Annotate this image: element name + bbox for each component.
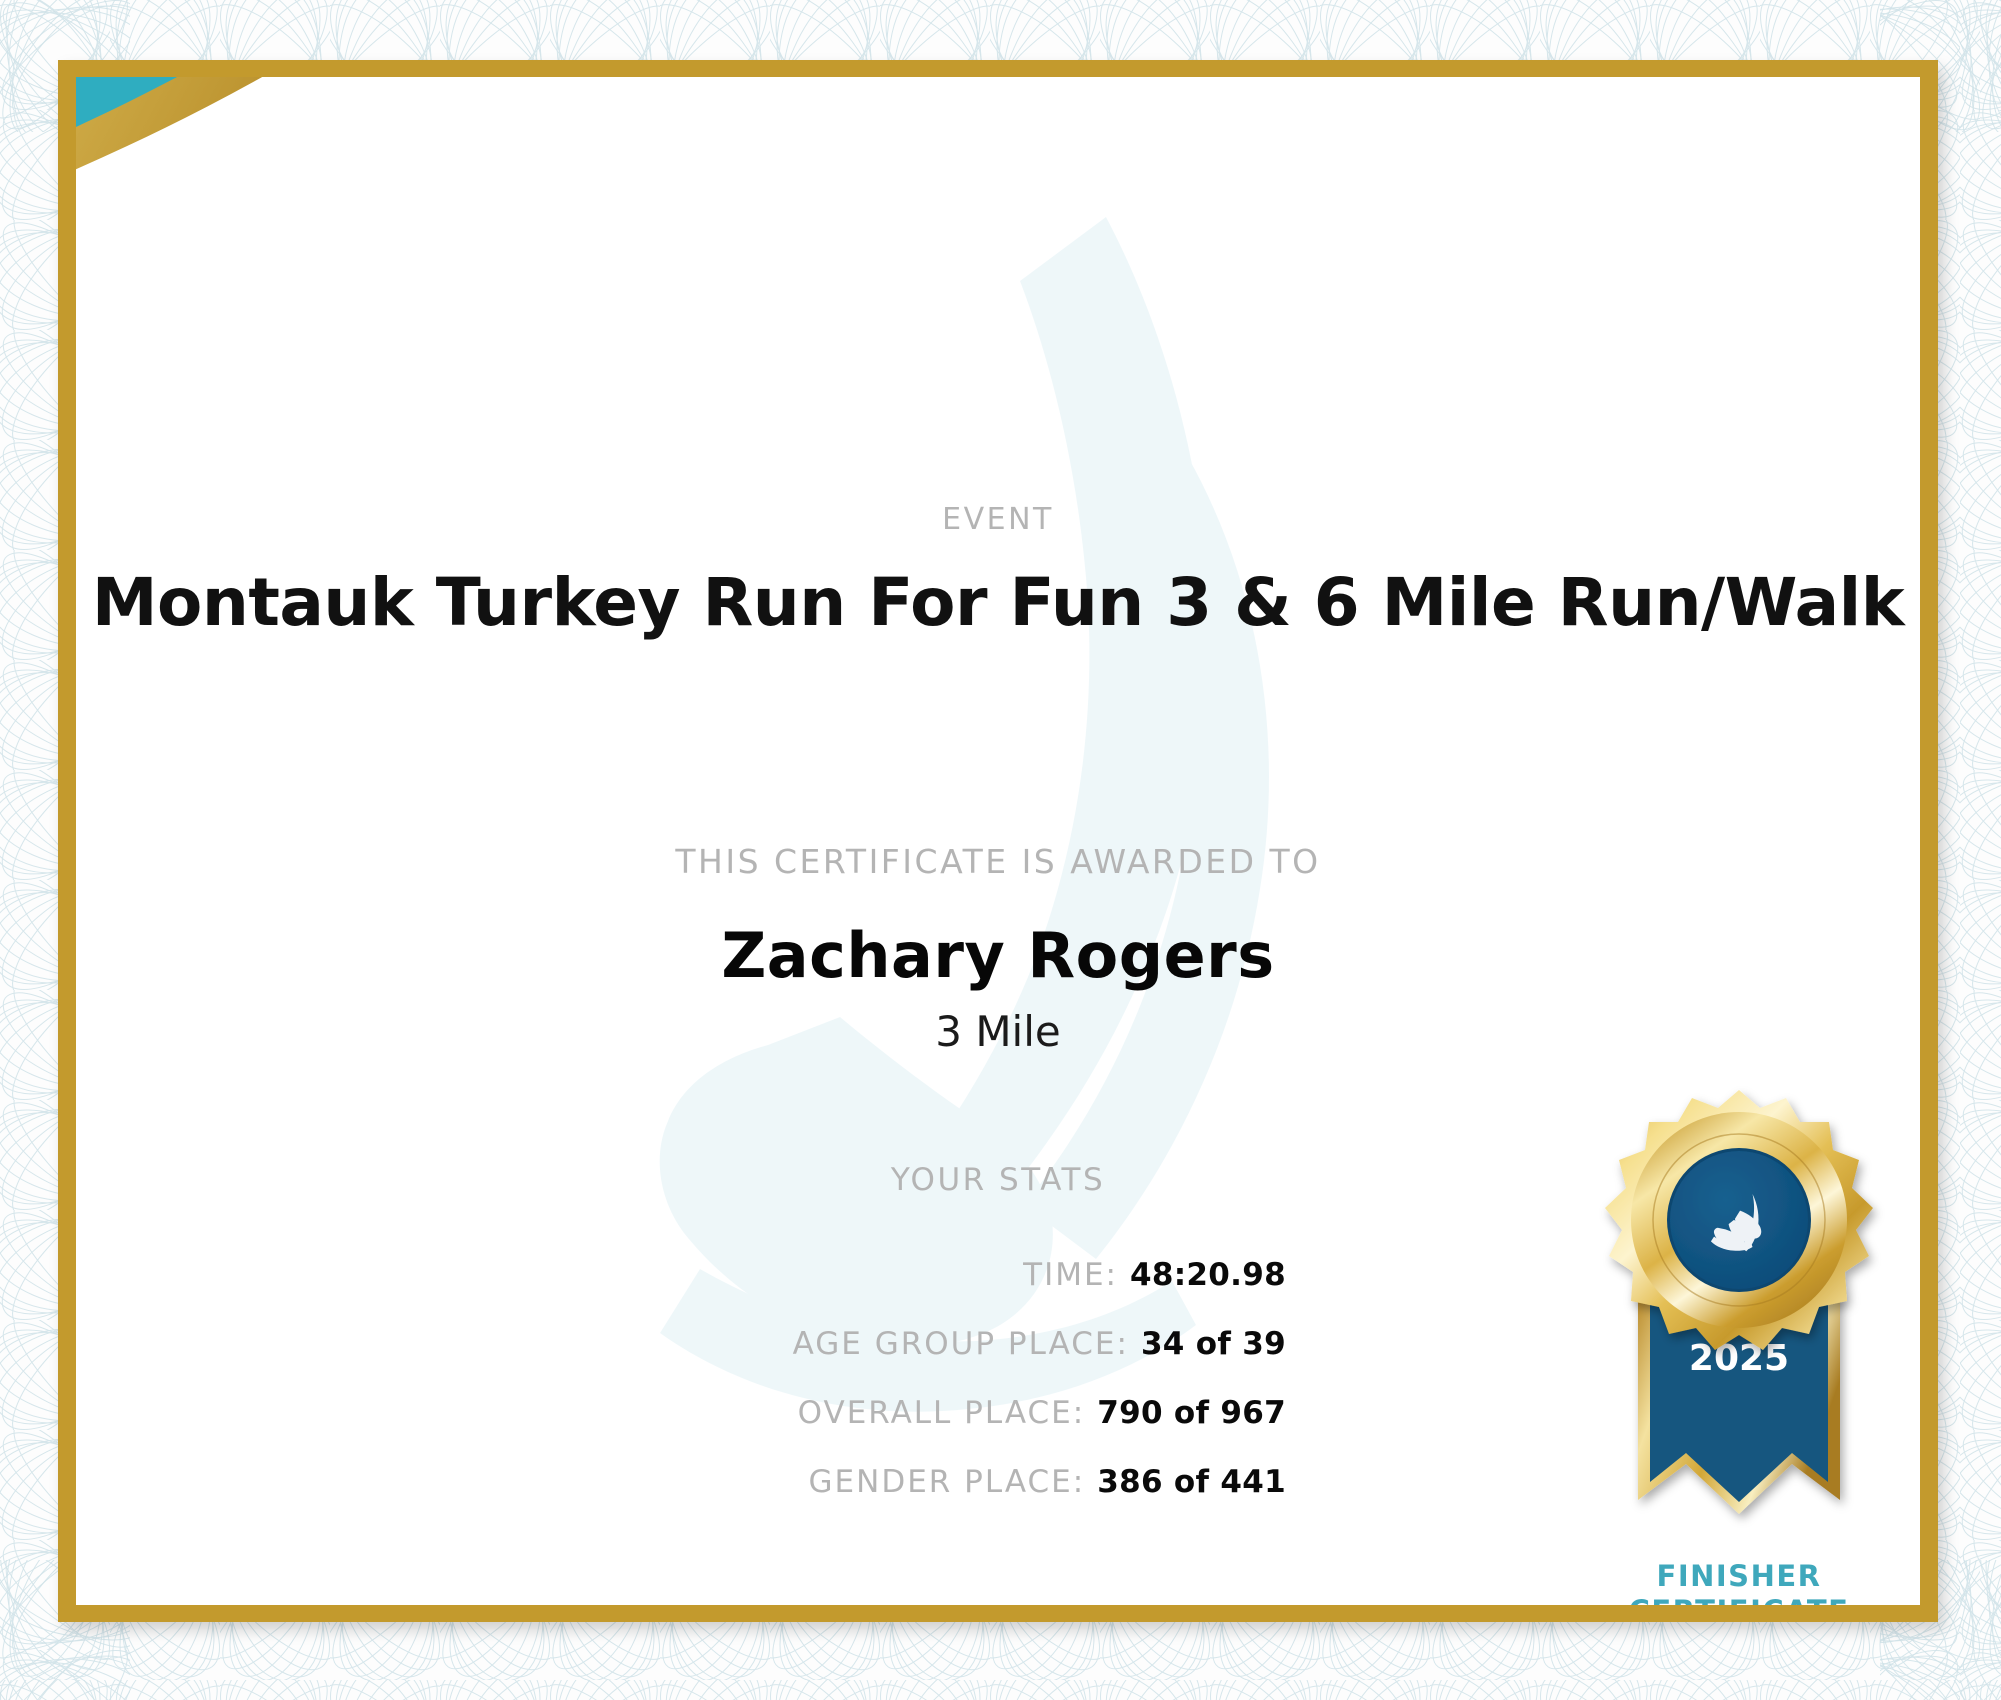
certificate-body: elitefeats EVENT Montauk Turkey Run For … xyxy=(76,77,1920,1605)
stat-row-gender-place: GENDER PLACE: 386 of 441 xyxy=(406,1464,1286,1500)
awarded-to-label: THIS CERTIFICATE IS AWARDED TO xyxy=(76,842,1920,881)
certificate-page: elitefeats EVENT Montauk Turkey Run For … xyxy=(0,0,2001,1700)
event-title: Montauk Turkey Run For Fun 3 & 6 Mile Ru… xyxy=(76,564,1920,641)
medal-caption-line1: FINISHER xyxy=(1574,1559,1904,1594)
stat-key: OVERALL PLACE: xyxy=(798,1395,1086,1431)
certificate-content: EVENT Montauk Turkey Run For Fun 3 & 6 M… xyxy=(76,77,1920,1605)
logo-wordmark: elitefeats xyxy=(196,204,504,274)
certificate-frame: elitefeats EVENT Montauk Turkey Run For … xyxy=(58,60,1938,1622)
stat-row-age-group-place: AGE GROUP PLACE: 34 of 39 xyxy=(406,1326,1286,1362)
stat-value: 386 of 441 xyxy=(1097,1464,1286,1500)
finisher-medal: 2025 xyxy=(1574,1082,1904,1605)
elitefeats-logo: elitefeats xyxy=(196,195,592,283)
stat-key: GENDER PLACE: xyxy=(809,1464,1086,1500)
stats-list: TIME: 48:20.98 AGE GROUP PLACE: 34 of 39… xyxy=(406,1257,1286,1533)
stat-row-time: TIME: 48:20.98 xyxy=(406,1257,1286,1293)
stat-key: AGE GROUP PLACE: xyxy=(793,1326,1129,1362)
medal-caption: FINISHER CERTIFICATE xyxy=(1574,1559,1904,1605)
race-distance: 3 Mile xyxy=(76,1007,1920,1056)
medal-year: 2025 xyxy=(1689,1338,1789,1379)
medal-caption-line2: CERTIFICATE xyxy=(1574,1594,1904,1605)
stat-key: TIME: xyxy=(1023,1257,1118,1293)
recipient-name: Zachary Rogers xyxy=(76,919,1920,992)
stat-row-overall-place: OVERALL PLACE: 790 of 967 xyxy=(406,1395,1286,1431)
stat-value: 790 of 967 xyxy=(1097,1395,1286,1431)
event-label: EVENT xyxy=(76,502,1920,537)
stat-value: 34 of 39 xyxy=(1141,1326,1286,1362)
stat-value: 48:20.98 xyxy=(1130,1257,1286,1293)
winged-foot-icon xyxy=(506,197,592,283)
